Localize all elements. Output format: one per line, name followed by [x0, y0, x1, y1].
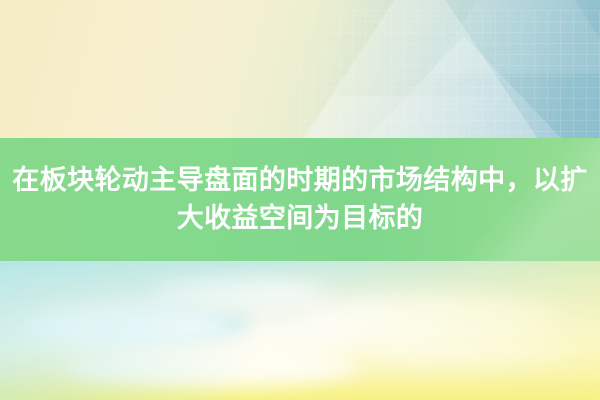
headline-band: 在板块轮动主导盘面的时期的市场结构中，以扩大收益空间为目标的: [0, 138, 600, 261]
blue-haze-icon: [90, 313, 250, 339]
cloud-sky-panel: [0, 261, 600, 400]
grid-texture-overlay: [300, 10, 600, 139]
cloud-icon: [210, 323, 360, 349]
diagonal-streak-icon: [303, 96, 503, 139]
cloud-icon: [300, 295, 560, 341]
diagonal-wedge-back-icon: [430, 0, 600, 74]
banner-image: 在板块轮动主导盘面的时期的市场结构中，以扩大收益空间为目标的: [0, 0, 600, 400]
cloud-icon: [380, 335, 570, 367]
cloud-icon: [60, 347, 360, 387]
diagonal-wedge-small-icon: [352, 36, 576, 139]
cloud-icon: [20, 305, 230, 347]
gradient-geometry-panel: [0, 0, 600, 139]
page-title: 在板块轮动主导盘面的时期的市场结构中，以扩大收益空间为目标的: [2, 162, 598, 238]
cloud-icon: [150, 279, 330, 309]
diagonal-wedge-large-icon: [300, 0, 540, 139]
